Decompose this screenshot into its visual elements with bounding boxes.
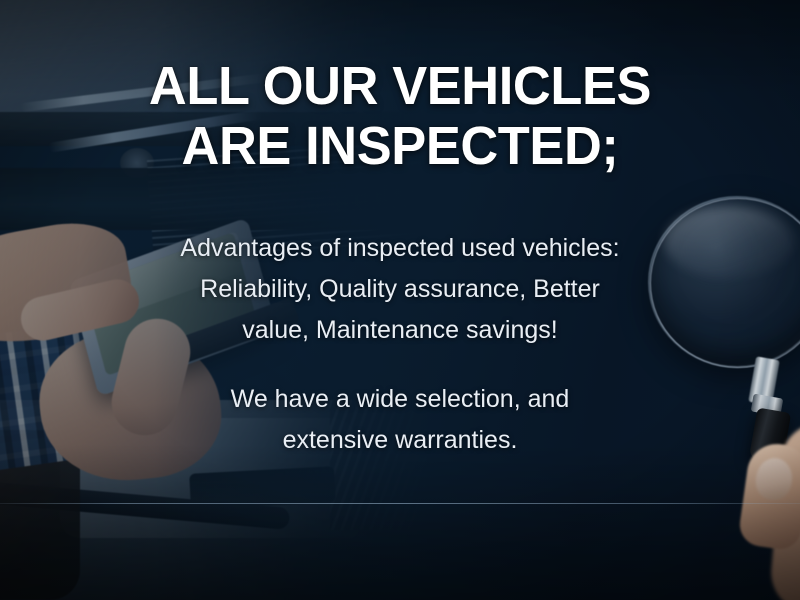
body-paragraph-1-line-3: value, Maintenance savings! bbox=[0, 310, 800, 351]
headline-line-1: ALL OUR VEHICLES bbox=[12, 56, 788, 116]
body-paragraph-1: Advantages of inspected used vehicles: R… bbox=[0, 228, 800, 351]
slide-content: ALL OUR VEHICLES ARE INSPECTED; Advantag… bbox=[0, 0, 800, 600]
headline: ALL OUR VEHICLES ARE INSPECTED; bbox=[12, 56, 788, 176]
body-paragraph-2-line-1: We have a wide selection, and bbox=[0, 379, 800, 420]
promotional-slide: ALL OUR VEHICLES ARE INSPECTED; Advantag… bbox=[0, 0, 800, 600]
body-paragraph-1-line-1: Advantages of inspected used vehicles: bbox=[0, 228, 800, 269]
body-paragraph-2-line-2: extensive warranties. bbox=[0, 420, 800, 461]
body-copy: Advantages of inspected used vehicles: R… bbox=[0, 228, 800, 461]
body-paragraph-1-line-2: Reliability, Quality assurance, Better bbox=[0, 269, 800, 310]
headline-line-2: ARE INSPECTED; bbox=[12, 116, 788, 176]
footer: www.blainvillechrysler.com BC BLAINVILLE… bbox=[0, 503, 800, 600]
body-paragraph-2: We have a wide selection, and extensive … bbox=[0, 379, 800, 461]
